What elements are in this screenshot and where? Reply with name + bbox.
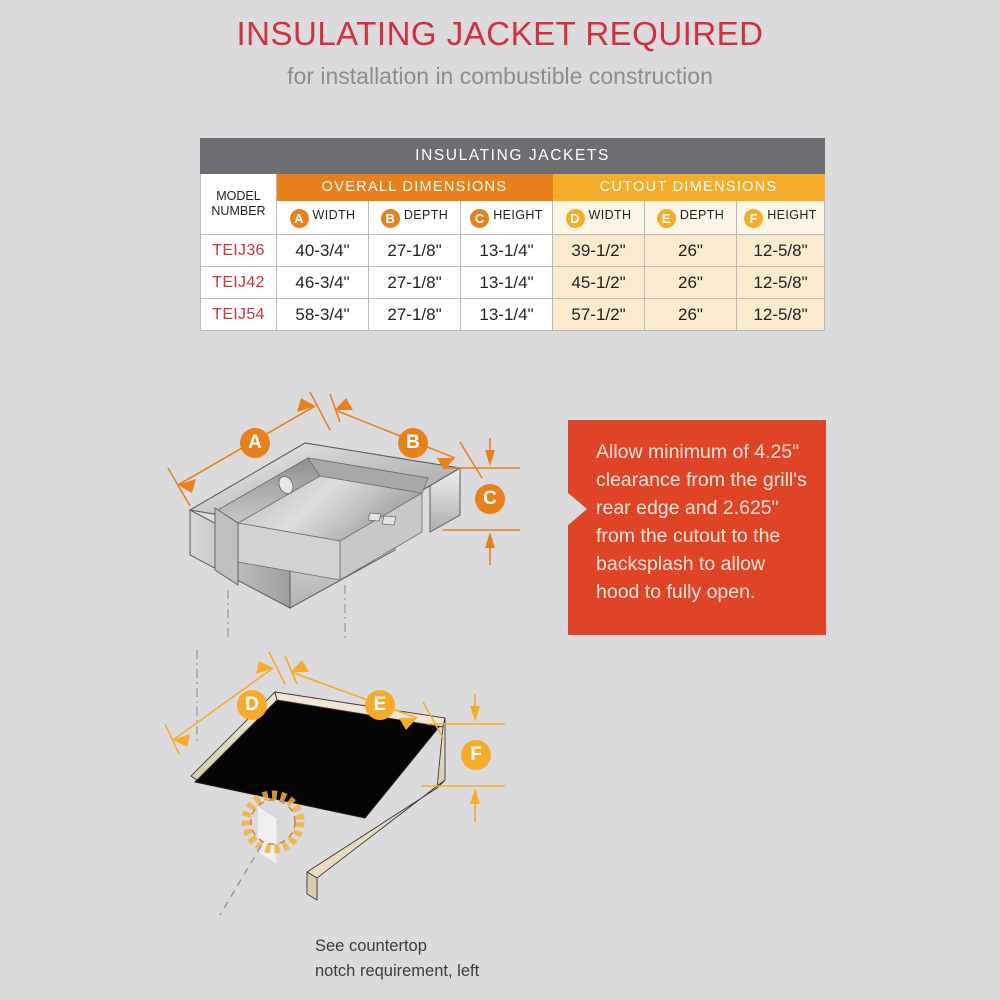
floor-slot-icon [382, 516, 396, 525]
cutout-isometric-svg [165, 650, 565, 930]
table-title-row: INSULATING JACKETS [201, 139, 825, 174]
badge-a-icon: A [290, 209, 309, 228]
cell-e-depth: 26" [645, 267, 737, 299]
table-row: TEIJ54 58-3/4" 27-1/8" 13-1/4" 57-1/2" 2… [201, 299, 825, 331]
cell-f-height: 12-5/8" [737, 299, 825, 331]
badge-f-icon: F [744, 209, 763, 228]
cell-d-width: 45-1/2" [553, 267, 645, 299]
table-caption: INSULATING JACKETS [201, 139, 825, 174]
dimension-badge-d: D [237, 690, 267, 720]
cell-c-height: 13-1/4" [461, 235, 553, 267]
column-header-a-width: AWIDTH [277, 201, 369, 235]
cell-model: TEIJ42 [201, 267, 277, 299]
cell-f-height: 12-5/8" [737, 235, 825, 267]
cell-f-height: 12-5/8" [737, 267, 825, 299]
badge-d-icon: D [566, 209, 585, 228]
cell-d-width: 57-1/2" [553, 299, 645, 331]
insulating-jackets-table: INSULATING JACKETS MODEL NUMBER OVERALL … [200, 138, 825, 331]
badge-e-icon: E [657, 209, 676, 228]
model-header-line1: MODEL [216, 189, 260, 203]
cell-b-depth: 27-1/8" [369, 235, 461, 267]
dimension-badge-a: A [240, 428, 270, 458]
column-header-b-depth: BDEPTH [369, 201, 461, 235]
callout-arrow-icon [567, 492, 587, 526]
dimension-badge-b: B [398, 428, 428, 458]
spec-table-container: INSULATING JACKETS MODEL NUMBER OVERALL … [200, 138, 824, 331]
column-label-f: HEIGHT [767, 208, 817, 222]
cell-b-depth: 27-1/8" [369, 299, 461, 331]
caption-line-1: See countertop [315, 934, 575, 959]
cell-a-width: 58-3/4" [277, 299, 369, 331]
model-number-header: MODEL NUMBER [201, 174, 277, 235]
page-title: INSULATING JACKET REQUIRED [0, 14, 1000, 54]
cell-d-width: 39-1/2" [553, 235, 645, 267]
dimension-badge-f: F [461, 740, 491, 770]
column-label-c: HEIGHT [493, 208, 543, 222]
dimension-badge-e: E [365, 690, 395, 720]
cell-model: TEIJ54 [201, 299, 277, 331]
page-header: INSULATING JACKET REQUIRED for installat… [0, 14, 1000, 90]
floor-slot-icon [368, 513, 381, 521]
badge-c-icon: C [470, 209, 489, 228]
column-header-c-height: CHEIGHT [461, 201, 553, 235]
column-label-e: DEPTH [680, 208, 724, 222]
column-label-b: DEPTH [404, 208, 448, 222]
cell-c-height: 13-1/4" [461, 299, 553, 331]
group-header-overall: OVERALL DIMENSIONS [277, 174, 553, 201]
column-header-f-height: FHEIGHT [737, 201, 825, 235]
cell-e-depth: 26" [645, 299, 737, 331]
model-header-line2: NUMBER [211, 204, 265, 218]
callout-text: Allow minimum of 4.25" clearance from th… [596, 438, 808, 606]
table-column-header-row: AWIDTH BDEPTH CHEIGHT DWIDTH EDEPTH FHEI… [201, 201, 825, 235]
group-header-cutout: CUTOUT DIMENSIONS [553, 174, 825, 201]
caption-line-2: notch requirement, left [315, 959, 575, 984]
clearance-callout: Allow minimum of 4.25" clearance from th… [568, 420, 826, 635]
table-group-row: MODEL NUMBER OVERALL DIMENSIONS CUTOUT D… [201, 174, 825, 201]
cell-a-width: 40-3/4" [277, 235, 369, 267]
cell-b-depth: 27-1/8" [369, 267, 461, 299]
table-row: TEIJ36 40-3/4" 27-1/8" 13-1/4" 39-1/2" 2… [201, 235, 825, 267]
countertop-cutout-drawing: D E F [165, 650, 565, 930]
dimension-badge-c: C [475, 484, 505, 514]
insulating-jacket-drawing: A B C [160, 380, 560, 640]
cell-e-depth: 26" [645, 235, 737, 267]
countertop-notch-caption: See countertop notch requirement, left [315, 934, 575, 984]
column-header-d-width: DWIDTH [553, 201, 645, 235]
cell-a-width: 46-3/4" [277, 267, 369, 299]
cell-model: TEIJ36 [201, 235, 277, 267]
column-header-e-depth: EDEPTH [645, 201, 737, 235]
badge-b-icon: B [381, 209, 400, 228]
page-subtitle: for installation in combustible construc… [0, 62, 1000, 90]
cell-c-height: 13-1/4" [461, 267, 553, 299]
column-label-a: WIDTH [313, 208, 356, 222]
table-row: TEIJ42 46-3/4" 27-1/8" 13-1/4" 45-1/2" 2… [201, 267, 825, 299]
column-label-d: WIDTH [589, 208, 632, 222]
